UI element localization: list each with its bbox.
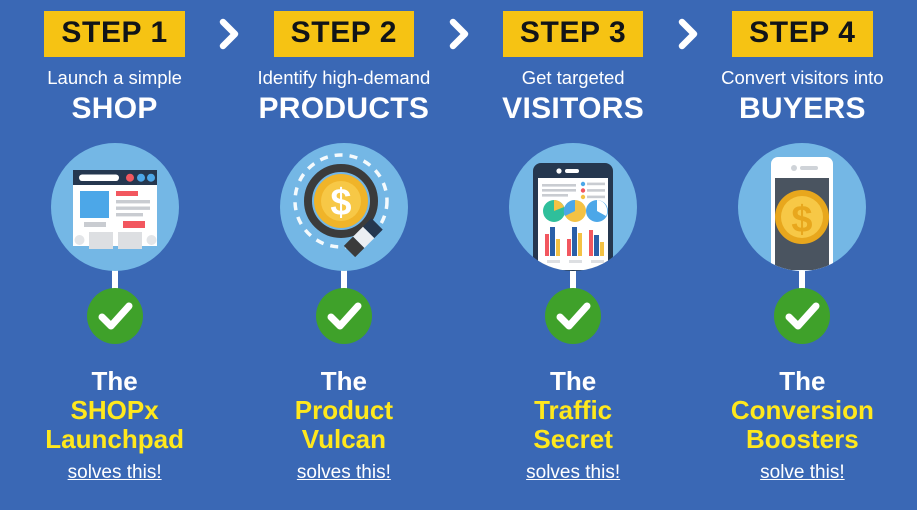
step-product-1: The SHOPx Launchpad solves this!: [0, 367, 229, 484]
step-column-1: STEP 1 Launch a simple SHOP: [0, 0, 229, 510]
solves-link-2[interactable]: solves this!: [229, 462, 458, 485]
product-prefix-1: The: [0, 367, 229, 396]
product-prefix-4: The: [688, 367, 917, 396]
step-icon-wrap-1: [51, 143, 179, 271]
step-icon-wrap-2: $: [280, 143, 408, 271]
product-line1-3: Traffic: [459, 396, 688, 425]
product-line2-3: Secret: [459, 425, 688, 454]
step-subtitle-3: Get targeted: [522, 67, 625, 88]
step-product-4: The Conversion Boosters solve this!: [688, 367, 917, 484]
step-badge-3[interactable]: STEP 3: [503, 11, 643, 57]
step-keyword-3: VISITORS: [502, 92, 644, 126]
product-line1-1: SHOPx: [0, 396, 229, 425]
product-line2-4: Boosters: [688, 425, 917, 454]
product-line2-2: Vulcan: [229, 425, 458, 454]
solves-link-3[interactable]: solves this!: [459, 462, 688, 485]
check-mark-icon-2: [316, 288, 372, 344]
step-column-2: STEP 2 Identify high-demand PRODUCTS $: [229, 0, 458, 510]
step-keyword-1: SHOP: [72, 92, 158, 126]
svg-text:$: $: [792, 199, 813, 241]
magnifier-dollar-coin-icon: $: [280, 143, 408, 271]
solves-link-1[interactable]: solves this!: [0, 462, 229, 485]
step-badge-1[interactable]: STEP 1: [44, 11, 184, 57]
svg-text:$: $: [330, 182, 351, 224]
badge-row-2: STEP 2: [229, 12, 458, 56]
step-product-3: The Traffic Secret solves this!: [459, 367, 688, 484]
step-column-3: STEP 3 Get targeted VISITORS: [459, 0, 688, 510]
steps-columns: STEP 1 Launch a simple SHOP: [0, 0, 917, 510]
smartphone-dollar-coin-icon: $: [738, 143, 866, 271]
badge-row-1: STEP 1: [0, 12, 229, 56]
step-badge-4[interactable]: STEP 4: [732, 11, 872, 57]
steps-infographic: STEP 1 Launch a simple SHOP: [0, 0, 917, 510]
step-subtitle-2: Identify high-demand: [257, 67, 430, 88]
product-prefix-2: The: [229, 367, 458, 396]
step-subtitle-4: Convert visitors into: [721, 67, 883, 88]
step-icon-wrap-4: $: [738, 143, 866, 271]
step-icon-wrap-3: [509, 143, 637, 271]
browser-window-icon: [51, 143, 179, 271]
step-product-2: The Product Vulcan solves this!: [229, 367, 458, 484]
badge-row-4: STEP 4: [688, 12, 917, 56]
check-mark-icon-1: [87, 288, 143, 344]
step-keyword-4: BUYERS: [739, 92, 866, 126]
product-line1-2: Product: [229, 396, 458, 425]
step-keyword-2: PRODUCTS: [259, 92, 430, 126]
tablet-analytics-charts-icon: [509, 143, 637, 271]
product-line1-4: Conversion: [688, 396, 917, 425]
solves-link-4[interactable]: solve this!: [688, 462, 917, 485]
step-badge-2[interactable]: STEP 2: [274, 11, 414, 57]
step-subtitle-1: Launch a simple: [47, 67, 182, 88]
check-mark-icon-3: [545, 288, 601, 344]
step-column-4: STEP 4 Convert visitors into BUYERS $: [688, 0, 917, 510]
product-line2-1: Launchpad: [0, 425, 229, 454]
product-prefix-3: The: [459, 367, 688, 396]
badge-row-3: STEP 3: [459, 12, 688, 56]
check-mark-icon-4: [774, 288, 830, 344]
